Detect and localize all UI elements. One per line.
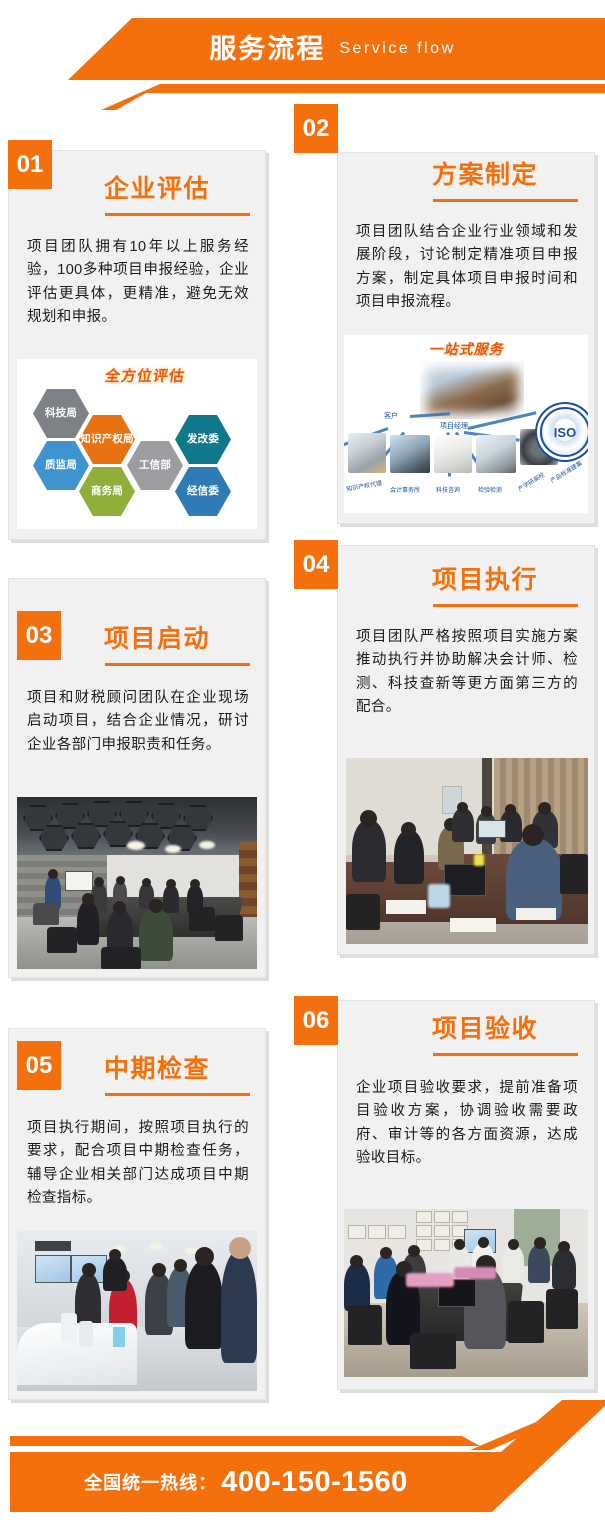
oss-node-client: 客户 bbox=[384, 411, 398, 421]
footer-hotline: 全国统一热线： 400-150-1560 bbox=[0, 1452, 492, 1512]
oss-label-3: 检验检测 bbox=[478, 485, 502, 494]
oss-photo-ip bbox=[348, 433, 386, 473]
oss-node-manager: 项目经理 bbox=[440, 421, 468, 431]
header-title-group: 服务流程 Service flow bbox=[0, 24, 605, 74]
step-body-05: 项目执行期间，按照项目执行的要求，配合项目中期检查任务，辅导企业相关部门达成项目… bbox=[27, 1117, 249, 1211]
step-badge-03: 03 bbox=[17, 611, 61, 660]
hex-node-jingxin: 经信委 bbox=[175, 467, 231, 516]
step-card-06[interactable]: 项目验收 企业项目验收要求，提前准备项目验收方案，协调验收需要政府、审计等的各方… bbox=[337, 1000, 595, 1390]
one-stop-service-diagram: 一站式服务 客户 项目经理 ISO 知识产权代理 会计事务所 科技咨询 检验检测… bbox=[344, 335, 588, 513]
title-underline-01 bbox=[105, 213, 250, 216]
title-underline-04 bbox=[433, 604, 578, 607]
oss-label-2: 科技咨询 bbox=[436, 485, 460, 494]
step-title-04: 项目执行 bbox=[432, 568, 538, 593]
step-title-02: 方案制定 bbox=[432, 163, 538, 188]
step-badge-04: 04 bbox=[294, 540, 338, 589]
hex-node-keji: 科技局 bbox=[33, 389, 89, 438]
oss-label-1: 会计事务所 bbox=[390, 485, 420, 494]
page-header: 服务流程 Service flow bbox=[0, 0, 605, 110]
step-card-05[interactable]: 05 中期检查 项目执行期间，按照项目执行的要求，配合项目中期检查任务，辅导企业… bbox=[8, 1028, 266, 1400]
step-title-05: 中期检查 bbox=[104, 1057, 210, 1082]
step-body-04: 项目团队严格按照项目实施方案推动执行并协助解决会计师、检测、科技查新等更方面第三… bbox=[356, 626, 578, 720]
photo-scene bbox=[344, 1209, 588, 1377]
step-badge-05: 05 bbox=[17, 1041, 61, 1090]
step-body-02: 项目团队结合企业行业领域和发展阶段，讨论制定精准项目申报方案，制定具体项目申报时… bbox=[356, 221, 578, 315]
oss-photo-team bbox=[420, 361, 524, 419]
hex-node-shangwu: 商务局 bbox=[79, 467, 135, 516]
hex-node-zhishi: 知识产权局 bbox=[79, 415, 135, 464]
step-title-03: 项目启动 bbox=[104, 627, 210, 652]
photo-showroom-visit bbox=[17, 1231, 257, 1391]
step-card-03[interactable]: 03 项目启动 项目和财税顾问团队在企业现场启动项目，结合企业情况，研讨企业各部… bbox=[8, 578, 266, 978]
photo-scene bbox=[17, 1231, 257, 1391]
hex-node-fagai: 发改委 bbox=[175, 415, 231, 464]
page-footer: 全国统一热线： 400-150-1560 bbox=[0, 1400, 605, 1538]
hex-node-zhijian: 质监局 bbox=[33, 441, 89, 490]
photo-conference-laptops bbox=[346, 758, 588, 944]
step-body-06: 企业项目验收要求，提前准备项目验收方案，协调验收需要政府、审计等的各方面资源，达… bbox=[356, 1077, 578, 1171]
step-card-04[interactable]: 项目执行 项目团队严格按照项目实施方案推动执行并协助解决会计师、检测、科技查新等… bbox=[337, 545, 595, 955]
iso-seal-icon: ISO bbox=[540, 407, 588, 457]
title-underline-06 bbox=[433, 1053, 578, 1056]
step-badge-02: 02 bbox=[294, 104, 338, 153]
hotline-label: 全国统一热线： bbox=[84, 1469, 217, 1495]
step-body-01: 项目团队拥有10年以上服务经验，100多种项目申报经验，企业评估更具体，更精准，… bbox=[27, 236, 249, 330]
step-body-03: 项目和财税顾问团队在企业现场启动项目，结合企业情况，研讨企业各部门申报职责和任务… bbox=[27, 687, 249, 757]
photo-acceptance-meeting bbox=[344, 1209, 588, 1377]
step-badge-06: 06 bbox=[294, 996, 338, 1045]
hexagon-chart: 全方位评估 科技局 知识产权局 发改委 质监局 工信部 商务局 经信委 bbox=[17, 359, 257, 529]
oss-photo-testing bbox=[476, 435, 516, 473]
oss-photo-consulting bbox=[434, 435, 472, 473]
oss-photo-accounting bbox=[390, 435, 430, 473]
hexagon-chart-title: 全方位评估 bbox=[104, 369, 186, 384]
step-card-02[interactable]: 方案制定 项目团队结合企业行业领域和发展阶段，讨论制定精准项目申报方案，制定具体… bbox=[337, 152, 595, 524]
step-badge-01: 01 bbox=[8, 140, 52, 189]
oss-label-0: 知识产权代理 bbox=[345, 478, 382, 493]
title-underline-03 bbox=[105, 663, 250, 666]
hex-node-gongxin: 工信部 bbox=[127, 441, 183, 490]
page-subtitle: Service flow bbox=[339, 41, 455, 57]
step-card-01[interactable]: 企业评估 项目团队拥有10年以上服务经验，100多种项目申报经验，企业评估更具体… bbox=[8, 150, 266, 540]
title-underline-02 bbox=[433, 199, 578, 202]
oss-label-4: 产学研高校 bbox=[516, 470, 546, 494]
photo-meeting-room bbox=[17, 797, 257, 969]
step-title-01: 企业评估 bbox=[104, 177, 210, 202]
one-stop-service-title: 一站式服务 bbox=[344, 339, 588, 359]
page-title: 服务流程 bbox=[209, 36, 325, 63]
hotline-number: 400-150-1560 bbox=[221, 1466, 408, 1499]
step-title-06: 项目验收 bbox=[432, 1017, 538, 1042]
infographic-page: 服务流程 Service flow 企业评估 项目团队拥有10年以上服务经验，1… bbox=[0, 0, 605, 1538]
photo-scene bbox=[346, 758, 588, 944]
photo-scene bbox=[17, 797, 257, 969]
title-underline-05 bbox=[105, 1093, 250, 1096]
